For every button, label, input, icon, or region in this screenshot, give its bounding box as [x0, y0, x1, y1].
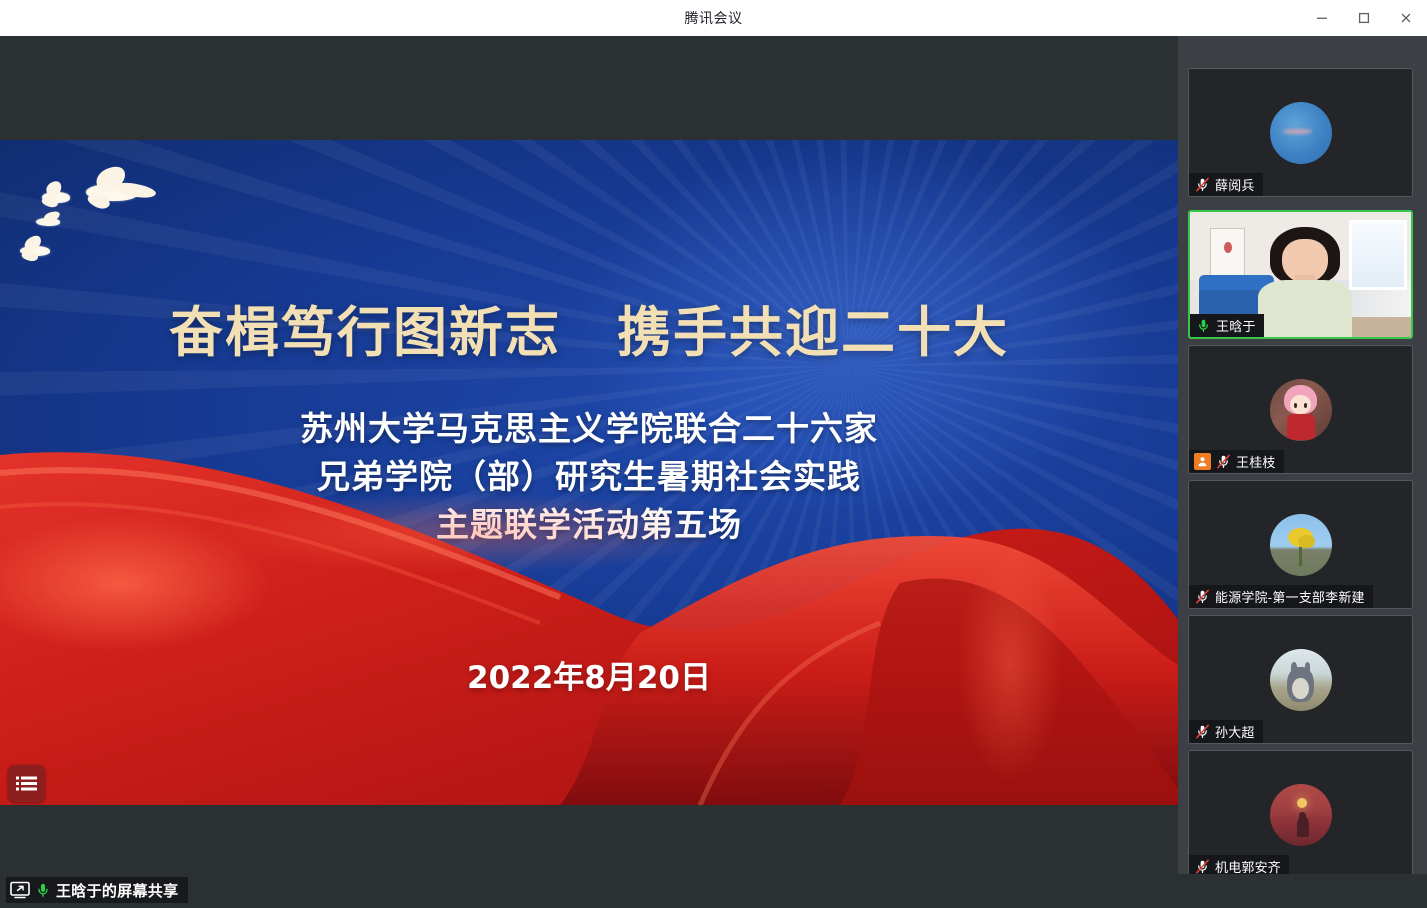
close-icon: [1399, 11, 1413, 25]
participant-name-chip: 薛阅兵: [1189, 173, 1263, 196]
share-status-bar: 王晗于的屏幕共享: [0, 874, 1427, 908]
participant-name: 能源学院-第一支部李新建: [1215, 587, 1365, 606]
participant-tile[interactable]: 机电郭安齐: [1188, 750, 1413, 879]
participant-name: 王桂枝: [1236, 452, 1276, 471]
participant-tile[interactable]: 能源学院-第一支部李新建: [1188, 480, 1413, 609]
mic-off-icon: [1194, 588, 1211, 605]
participant-name: 薛阅兵: [1215, 175, 1255, 194]
participant-rail[interactable]: 薛阅兵: [1178, 36, 1427, 874]
mic-off-icon: [1194, 723, 1211, 740]
slide-title: 奋楫笃行图新志 携手共迎二十大: [0, 288, 1178, 367]
slide-date: 2022年8月20日: [0, 652, 1178, 697]
maximize-icon: [1357, 11, 1371, 25]
dove-icon: [32, 212, 66, 230]
share-status-chip[interactable]: 王晗于的屏幕共享: [6, 877, 188, 903]
tencent-meeting-window: 腾讯会议: [0, 0, 1427, 908]
participant-tile[interactable]: 孙大超: [1188, 615, 1413, 744]
participant-tile[interactable]: 王晗于: [1188, 210, 1413, 339]
avatar: [1270, 102, 1332, 164]
close-button[interactable]: [1385, 0, 1427, 36]
mic-off-icon: [1215, 453, 1232, 470]
mic-on-icon: [1195, 317, 1212, 334]
window-title-bar: 腾讯会议: [0, 0, 1427, 36]
window-controls: [1301, 0, 1427, 36]
participant-name-chip: 孙大超: [1189, 720, 1263, 743]
window-title: 腾讯会议: [685, 8, 743, 28]
participant-name-chip: 能源学院-第一支部李新建: [1189, 585, 1373, 608]
slide-menu-button[interactable]: [8, 765, 45, 802]
mic-off-icon: [1194, 176, 1211, 193]
participant-tile[interactable]: 薛阅兵: [1188, 68, 1413, 197]
maximize-button[interactable]: [1343, 0, 1385, 36]
participant-name-chip: 王桂枝: [1189, 450, 1284, 473]
avatar: [1270, 649, 1332, 711]
dove-icon: [36, 182, 80, 212]
person-badge-icon: [1194, 453, 1211, 470]
dove-icon: [14, 236, 60, 264]
participant-name: 孙大超: [1215, 722, 1255, 741]
shared-screen-stage[interactable]: 奋楫笃行图新志 携手共迎二十大 苏州大学马克思主义学院联合二十六家 兄弟学院（部…: [0, 36, 1178, 874]
participant-name-chip: 王晗于: [1190, 314, 1264, 337]
share-status-label: 王晗于的屏幕共享: [56, 880, 178, 901]
mic-off-icon: [1194, 858, 1211, 875]
list-menu-icon: [16, 775, 37, 792]
avatar: [1270, 784, 1332, 846]
avatar: [1270, 379, 1332, 441]
red-silk-decoration: [0, 433, 1178, 805]
avatar: [1270, 514, 1332, 576]
dove-icon: [72, 168, 156, 212]
participant-tile[interactable]: 王桂枝: [1188, 345, 1413, 474]
presentation-slide: 奋楫笃行图新志 携手共迎二十大 苏州大学马克思主义学院联合二十六家 兄弟学院（部…: [0, 140, 1178, 805]
minimize-button[interactable]: [1301, 0, 1343, 36]
mic-on-icon: [34, 881, 52, 899]
doves-decoration: [14, 158, 164, 268]
minimize-icon: [1315, 11, 1329, 25]
participant-name: 王晗于: [1216, 316, 1256, 335]
screen-share-icon: [10, 881, 30, 899]
